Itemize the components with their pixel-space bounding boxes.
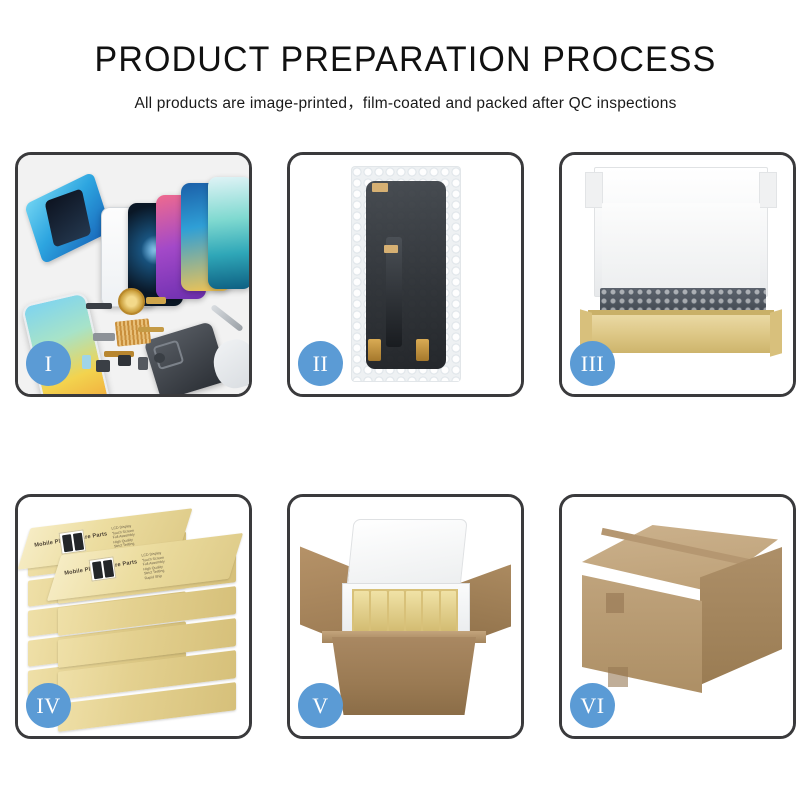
small-part (93, 333, 115, 341)
small-part (86, 303, 112, 309)
process-step-grid: I II III (15, 152, 796, 739)
flex-cable (386, 237, 402, 347)
header: PRODUCT PREPARATION PROCESS All products… (0, 0, 811, 113)
connector-left (368, 339, 381, 361)
carton-body (332, 637, 476, 715)
connector-right (416, 339, 429, 361)
process-step-panel-1: I (15, 152, 252, 397)
carton-tape-patch (606, 593, 624, 613)
box-product-photo (59, 529, 87, 554)
foam-box-lid (346, 519, 467, 589)
foam-sheet (602, 203, 760, 295)
process-step-panel-3: III (559, 152, 796, 397)
bubble-wrap-sleeve (352, 167, 460, 381)
phone-teal (208, 177, 249, 289)
small-part (154, 353, 165, 363)
process-step-panel-4: Mobile Phone Spare Parts LCD Display Tou… (15, 494, 252, 739)
small-part (118, 355, 131, 366)
process-step-panel-2: II (287, 152, 524, 397)
chip-grid-part (115, 318, 151, 346)
step-badge-5: V (298, 683, 343, 728)
step-badge-3: III (570, 341, 615, 386)
process-step-panel-6: VI (559, 494, 796, 739)
page-title: PRODUCT PREPARATION PROCESS (12, 42, 799, 79)
step-badge-6: VI (570, 683, 615, 728)
lid-tab-right (759, 172, 777, 208)
small-part (138, 357, 148, 370)
carton-tape-patch (608, 667, 628, 687)
kraft-box-body (588, 315, 774, 353)
step-badge-1: I (26, 341, 71, 386)
lid-tab-left (585, 172, 603, 208)
tape-strip (372, 183, 388, 192)
small-part (138, 327, 164, 332)
process-step-panel-5: V (287, 494, 524, 739)
step-badge-2: II (298, 341, 343, 386)
small-part (82, 355, 91, 369)
step-badge-4: IV (26, 683, 71, 728)
box-spec-text: LCD Display Touch Screen Full Assembly H… (141, 551, 167, 581)
small-part (96, 360, 110, 372)
packed-kraft-boxes (352, 589, 458, 633)
small-part (146, 297, 166, 304)
page-subtitle: All products are image-printed，film-coat… (0, 91, 811, 113)
box-product-photo (89, 556, 117, 581)
tape-strip (384, 245, 398, 253)
coil-part (118, 288, 145, 315)
